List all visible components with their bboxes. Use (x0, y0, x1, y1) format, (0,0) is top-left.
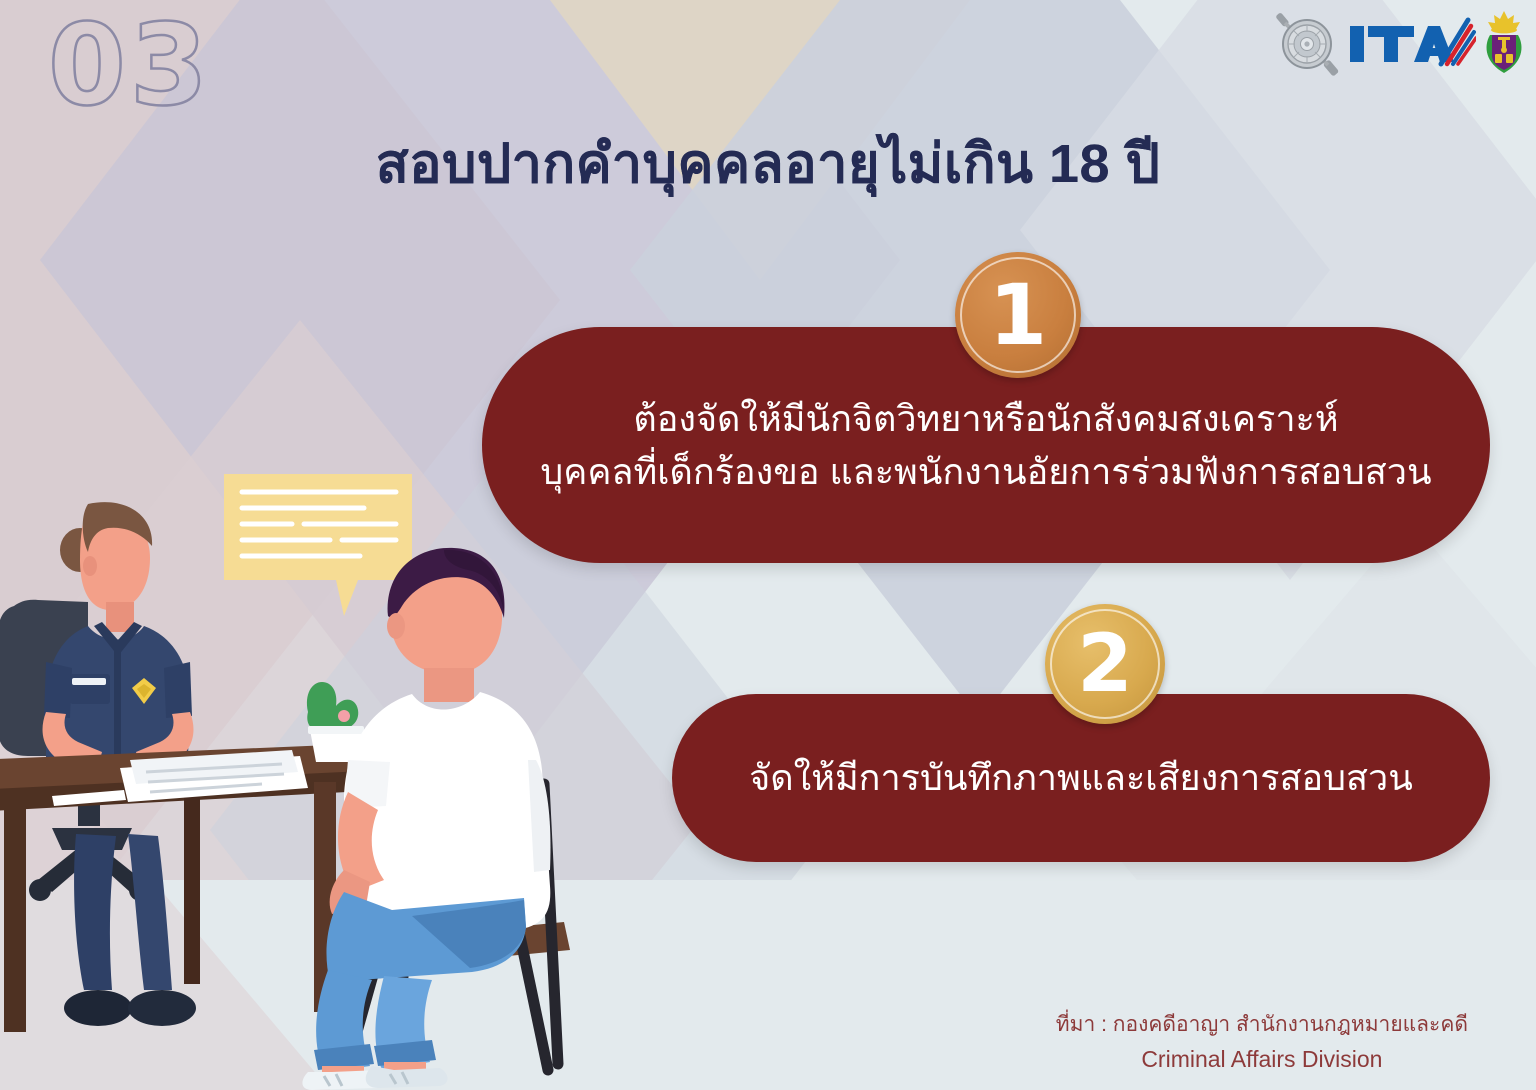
speech-bubble-icon (224, 474, 412, 616)
youth-figure (302, 548, 550, 1090)
badge-1-digit: 1 (989, 273, 1047, 357)
logo-strip (1272, 8, 1526, 80)
page-title: สอบปากคำบุคคลอายุไม่เกิน 18 ปี (0, 120, 1536, 206)
police-interview-illustration (0, 430, 592, 1090)
source-thai: ที่มา : กองคดีอาญา สำนักงานกฎหมายและคดี (1056, 1010, 1468, 1040)
source-credit: ที่มา : กองคดีอาญา สำนักงานกฎหมายและคดี … (1056, 1010, 1468, 1076)
card-1-line-1: ต้องจัดให้มีนักจิตวิทยาหรือนักสังคมสงเคร… (540, 392, 1431, 445)
ita-logo (1348, 14, 1476, 74)
card-2-text: จัดให้มีการบันทึกภาพและเสียงการสอบสวน (707, 751, 1455, 804)
infographic-slide: 03 (0, 0, 1536, 1090)
badge-number-2: 2 (1045, 604, 1165, 724)
royal-thai-police-crest-logo (1482, 9, 1526, 79)
card-1-line-2: บุคคลที่เด็กร้องขอ และพนักงานอัยการร่วมฟ… (540, 445, 1431, 498)
card-2-line-1: จัดให้มีการบันทึกภาพและเสียงการสอบสวน (749, 751, 1413, 804)
step-number: 03 (48, 8, 212, 126)
badge-2-digit: 2 (1077, 624, 1133, 704)
source-english: Criminal Affairs Division (1056, 1043, 1468, 1076)
royal-thai-police-silver-emblem-logo (1272, 8, 1342, 80)
badge-number-1: 1 (955, 252, 1081, 378)
card-1-text: ต้องจัดให้มีนักจิตวิทยาหรือนักสังคมสงเคร… (498, 392, 1473, 499)
